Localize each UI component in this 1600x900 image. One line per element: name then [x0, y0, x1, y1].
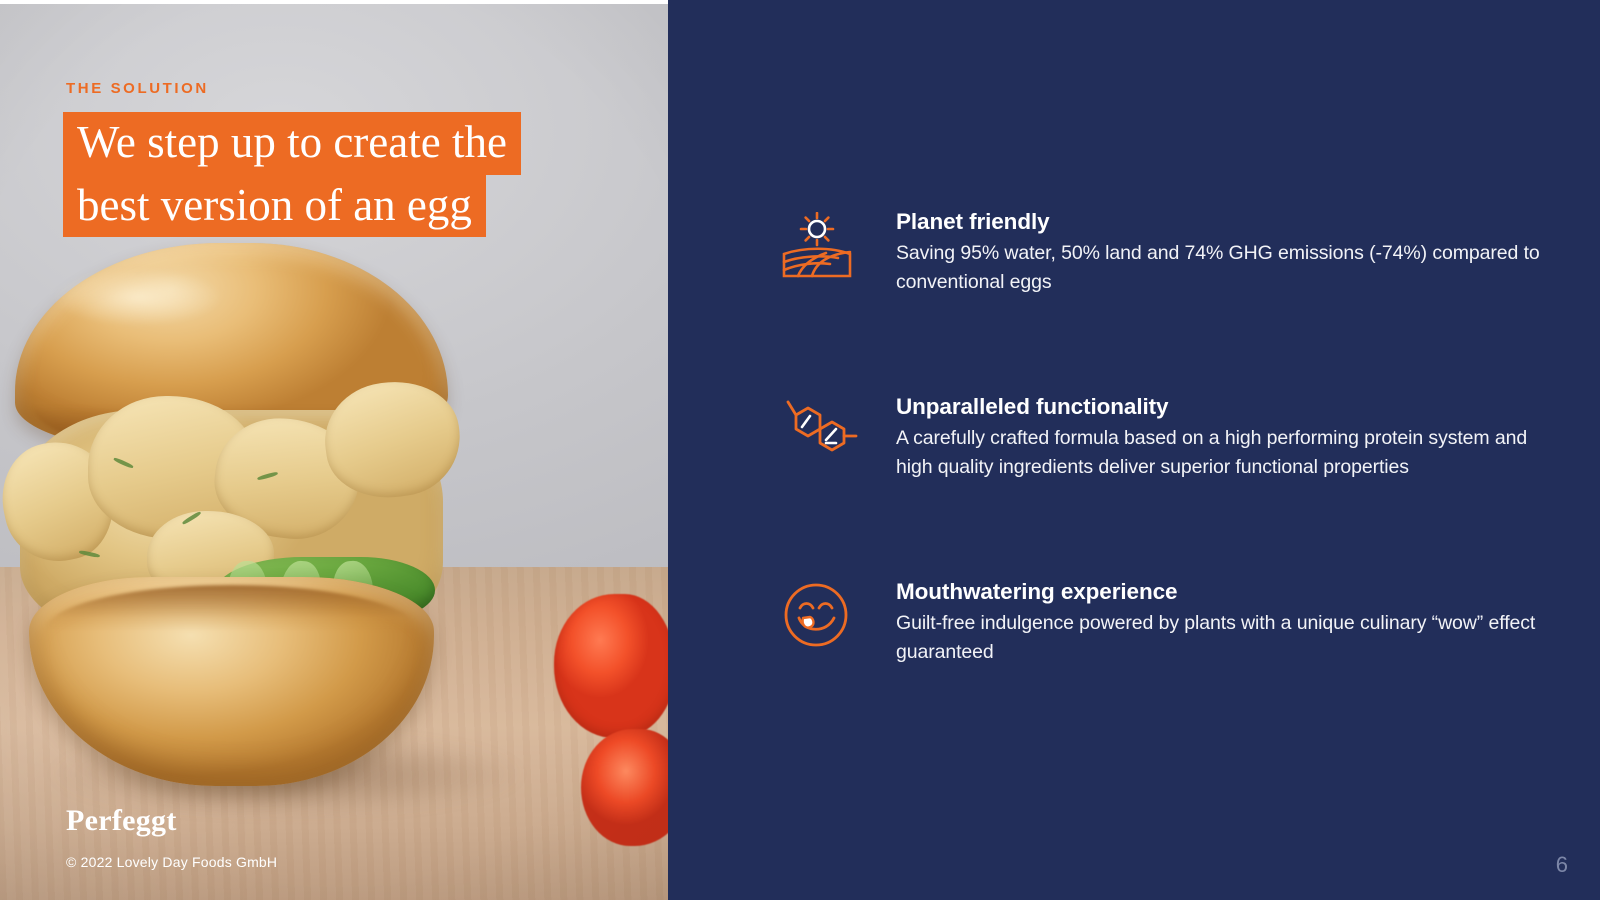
bagel-bottom-half — [29, 577, 435, 786]
sun-over-field-icon — [782, 208, 860, 278]
headline-line-2: best version of an egg — [63, 175, 486, 238]
section-eyebrow: THE SOLUTION — [66, 80, 209, 97]
copyright-notice: © 2022 Lovely Day Foods GmbH — [66, 854, 277, 870]
feature-description: A carefully crafted formula based on a h… — [896, 424, 1552, 483]
feature-text: Planet friendly Saving 95% water, 50% la… — [860, 208, 1552, 298]
headline-line-1: We step up to create the — [63, 112, 521, 175]
cherry-tomato — [554, 594, 668, 738]
feature-title: Unparalleled functionality — [896, 393, 1552, 421]
feature-description: Saving 95% water, 50% land and 74% GHG e… — [896, 239, 1552, 298]
feature-description: Guilt-free indulgence powered by plants … — [896, 609, 1552, 668]
feature-item-planet-friendly: Planet friendly Saving 95% water, 50% la… — [782, 208, 1552, 298]
molecule-icon — [782, 393, 860, 461]
photo-panel: THE SOLUTION We step up to create the be… — [0, 0, 668, 900]
feature-title: Mouthwatering experience — [896, 578, 1552, 606]
feature-item-mouthwatering-experience: Mouthwatering experience Guilt-free indu… — [782, 578, 1552, 668]
feature-title: Planet friendly — [896, 208, 1552, 236]
feature-text: Unparalleled functionality A carefully c… — [860, 393, 1552, 483]
presentation-slide: THE SOLUTION We step up to create the be… — [0, 0, 1600, 900]
chive-garnish — [79, 550, 100, 558]
page-title: We step up to create the best version of… — [63, 112, 521, 237]
brand-logo: Perfeggt — [66, 804, 177, 838]
smiley-licking-lips-icon — [782, 578, 860, 648]
content-panel: Planet friendly Saving 95% water, 50% la… — [668, 0, 1600, 900]
cherry-tomato — [581, 729, 668, 846]
bagel-sandwich — [7, 243, 448, 765]
feature-text: Mouthwatering experience Guilt-free indu… — [860, 578, 1552, 668]
page-number: 6 — [1556, 852, 1568, 878]
feature-item-unparalleled-functionality: Unparalleled functionality A carefully c… — [782, 393, 1552, 483]
bagel-bottom-rim — [45, 585, 418, 631]
slide-top-edge — [0, 0, 668, 4]
